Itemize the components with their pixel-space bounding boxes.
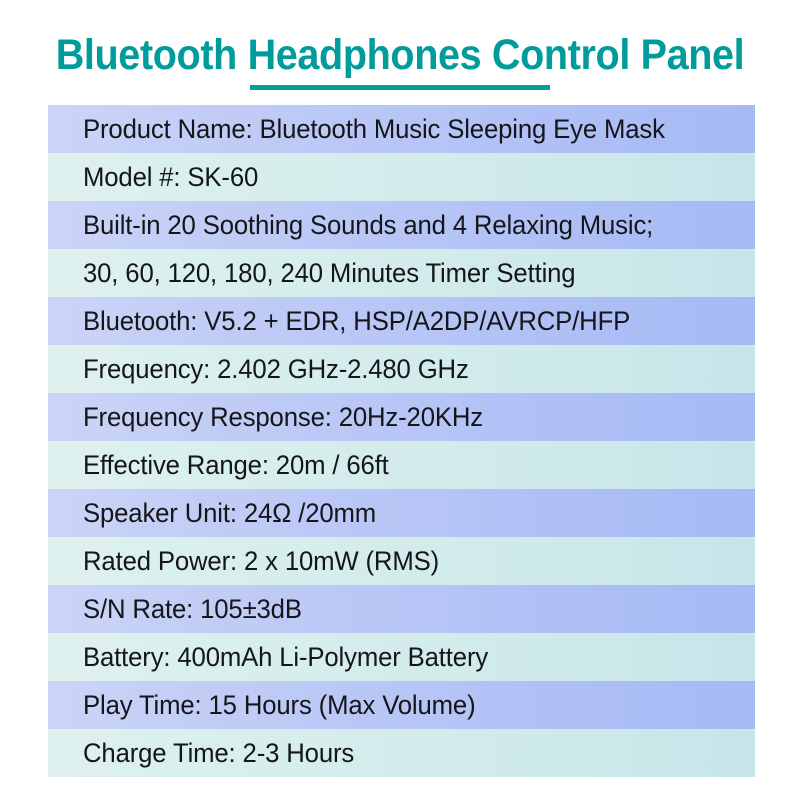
spec-row: Frequency: 2.402 GHz-2.480 GHz	[48, 345, 755, 393]
title-underline-accent	[250, 85, 550, 90]
spec-row-text: S/N Rate: 105±3dB	[83, 594, 302, 624]
spec-row-text: Battery: 400mAh Li-Polymer Battery	[83, 642, 488, 672]
page-title: Bluetooth Headphones Control Panel	[32, 30, 768, 80]
spec-row: Rated Power: 2 x 10mW (RMS)	[48, 537, 755, 585]
spec-row-text: Play Time: 15 Hours (Max Volume)	[83, 690, 475, 720]
spec-row: Play Time: 15 Hours (Max Volume)	[48, 681, 755, 729]
spec-row: Effective Range: 20m / 66ft	[48, 441, 755, 489]
spec-row-text: Frequency Response: 20Hz-20KHz	[83, 402, 483, 432]
spec-row: Bluetooth: V5.2 + EDR, HSP/A2DP/AVRCP/HF…	[48, 297, 755, 345]
spec-row-text: Product Name: Bluetooth Music Sleeping E…	[83, 114, 665, 144]
spec-row: S/N Rate: 105±3dB	[48, 585, 755, 633]
spec-table: Product Name: Bluetooth Music Sleeping E…	[48, 105, 755, 777]
spec-row: Model #: SK-60	[48, 153, 755, 201]
spec-row: Battery: 400mAh Li-Polymer Battery	[48, 633, 755, 681]
spec-row-text: Bluetooth: V5.2 + EDR, HSP/A2DP/AVRCP/HF…	[83, 306, 630, 336]
spec-row-text: Built-in 20 Soothing Sounds and 4 Relaxi…	[83, 210, 653, 240]
spec-row-text: Model #: SK-60	[83, 162, 258, 192]
spec-row: Built-in 20 Soothing Sounds and 4 Relaxi…	[48, 201, 755, 249]
spec-row: Charge Time: 2-3 Hours	[48, 729, 755, 777]
title-block: Bluetooth Headphones Control Panel	[0, 30, 800, 90]
spec-row-text: 30, 60, 120, 180, 240 Minutes Timer Sett…	[83, 258, 575, 288]
spec-row: Frequency Response: 20Hz-20KHz	[48, 393, 755, 441]
spec-row-text: Effective Range: 20m / 66ft	[83, 450, 389, 480]
spec-row-text: Frequency: 2.402 GHz-2.480 GHz	[83, 354, 469, 384]
spec-sheet: Bluetooth Headphones Control Panel Produ…	[0, 0, 800, 800]
spec-row: Product Name: Bluetooth Music Sleeping E…	[48, 105, 755, 153]
spec-row-text: Speaker Unit: 24Ω /20mm	[83, 498, 376, 528]
spec-row: Speaker Unit: 24Ω /20mm	[48, 489, 755, 537]
spec-row: 30, 60, 120, 180, 240 Minutes Timer Sett…	[48, 249, 755, 297]
spec-row-text: Rated Power: 2 x 10mW (RMS)	[83, 546, 439, 576]
spec-row-text: Charge Time: 2-3 Hours	[83, 738, 354, 768]
